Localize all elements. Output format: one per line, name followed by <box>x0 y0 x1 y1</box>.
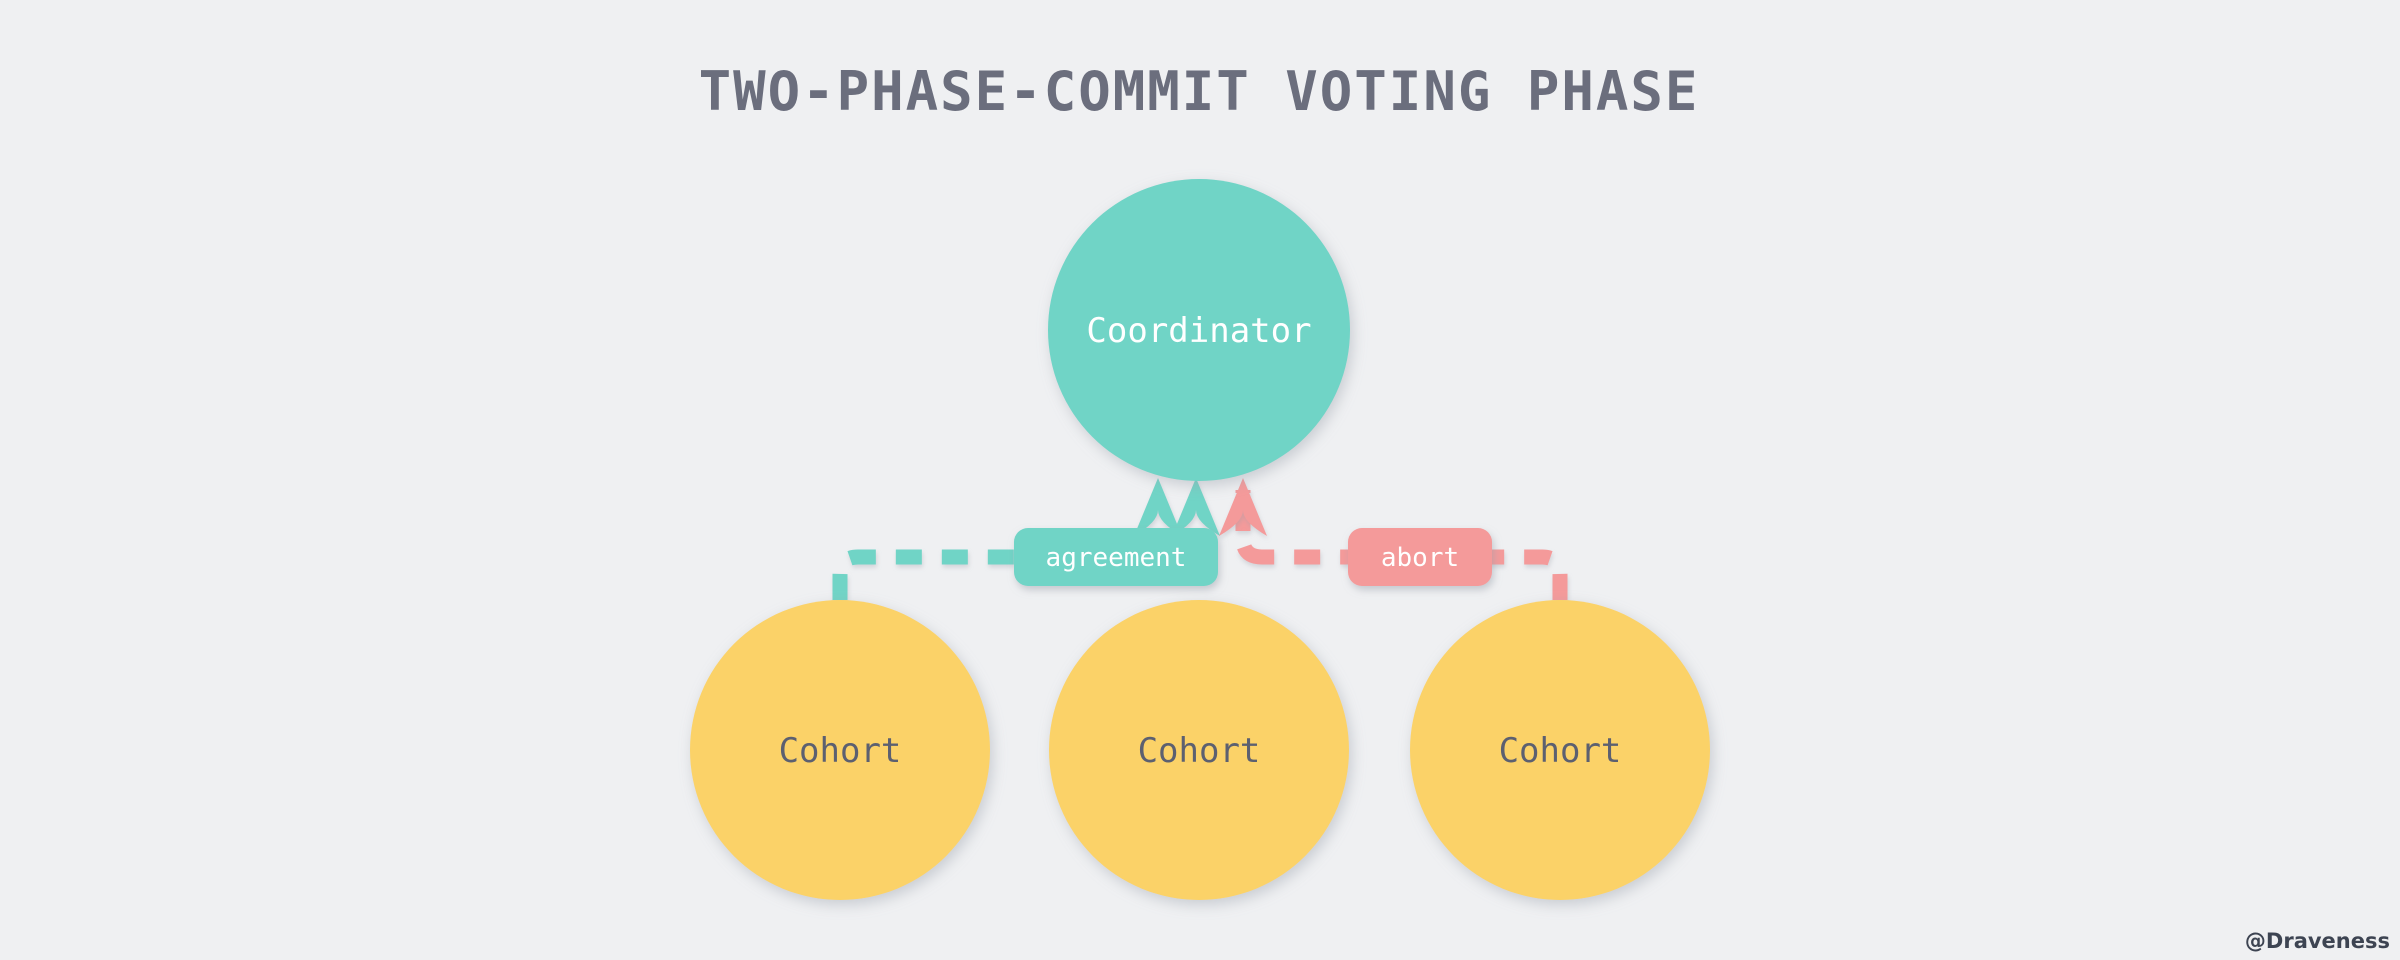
node-coordinator-label: Coordinator <box>1086 311 1311 351</box>
diagram-svg: TWO-PHASE-COMMIT VOTING PHASE <box>0 0 2400 960</box>
node-cohort-left-label: Cohort <box>779 731 902 771</box>
edge-label-abort-text: abort <box>1381 543 1459 573</box>
edge-label-agreement-text: agreement <box>1046 543 1187 573</box>
watermark: @Draveness <box>2245 929 2390 953</box>
node-cohort-center-label: Cohort <box>1138 731 1261 771</box>
node-cohort-left[interactable]: Cohort <box>690 600 990 900</box>
edge-label-abort[interactable]: abort <box>1348 528 1492 586</box>
diagram-canvas: TWO-PHASE-COMMIT VOTING PHASE <box>0 0 2400 960</box>
node-coordinator[interactable]: Coordinator <box>1048 179 1350 481</box>
node-cohort-center[interactable]: Cohort <box>1049 600 1349 900</box>
edge-label-agreement[interactable]: agreement <box>1014 528 1218 586</box>
node-cohort-right-label: Cohort <box>1499 731 1622 771</box>
page-title: TWO-PHASE-COMMIT VOTING PHASE <box>699 60 1700 123</box>
node-cohort-right[interactable]: Cohort <box>1410 600 1710 900</box>
